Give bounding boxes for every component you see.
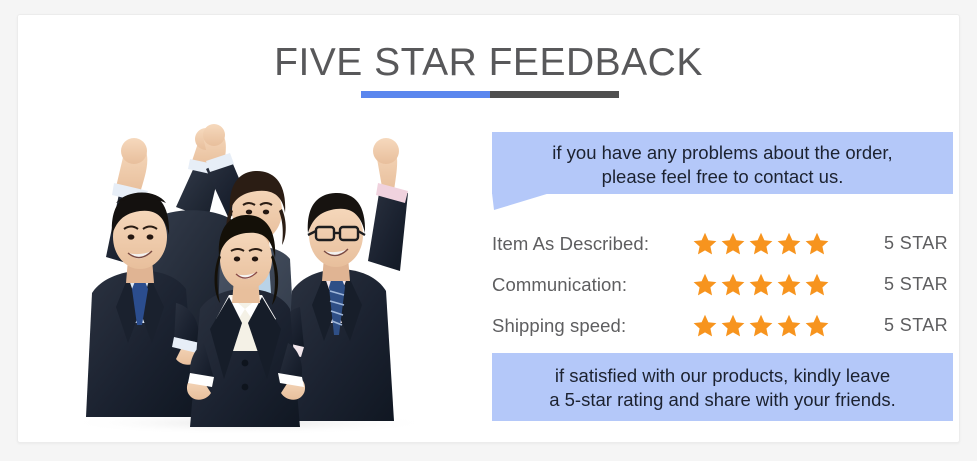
rating-value-communication: 5 STAR bbox=[852, 274, 948, 295]
rating-stars-item-as-described bbox=[692, 231, 852, 257]
speech-bubble-tail bbox=[492, 193, 564, 209]
ratings-list: Item As Described: 5 STAR Communication: bbox=[492, 223, 953, 346]
star-icon bbox=[748, 231, 774, 257]
banner-card: FIVE STAR FEEDBACK bbox=[17, 14, 960, 443]
rating-stars-shipping-speed bbox=[692, 313, 852, 339]
title-rule-blue-segment bbox=[361, 91, 490, 98]
contact-message-line-1: if you have any problems about the order… bbox=[502, 141, 943, 165]
rating-value-shipping-speed: 5 STAR bbox=[852, 315, 948, 336]
contact-message-line-2: please feel free to contact us. bbox=[502, 165, 943, 189]
star-icon bbox=[720, 313, 746, 339]
star-icon bbox=[776, 231, 802, 257]
rating-request-bubble: if satisfied with our products, kindly l… bbox=[492, 353, 953, 421]
rating-label-item-as-described: Item As Described: bbox=[492, 233, 692, 255]
rating-request-line-1: if satisfied with our products, kindly l… bbox=[502, 364, 943, 388]
star-icon bbox=[804, 231, 830, 257]
star-icon bbox=[776, 313, 802, 339]
star-icon bbox=[776, 272, 802, 298]
star-icon bbox=[748, 313, 774, 339]
star-icon bbox=[720, 272, 746, 298]
rating-stars-communication bbox=[692, 272, 852, 298]
star-icon bbox=[692, 272, 718, 298]
rating-row: Shipping speed: 5 STAR bbox=[492, 305, 953, 346]
rating-row: Communication: 5 STAR bbox=[492, 264, 953, 305]
star-icon bbox=[804, 272, 830, 298]
star-icon bbox=[692, 231, 718, 257]
rating-label-shipping-speed: Shipping speed: bbox=[492, 315, 692, 337]
rating-value-item-as-described: 5 STAR bbox=[852, 233, 948, 254]
rating-request-line-2: a 5-star rating and share with your frie… bbox=[502, 388, 943, 412]
feedback-banner: FIVE STAR FEEDBACK bbox=[0, 0, 977, 461]
feedback-content: if you have any problems about the order… bbox=[475, 15, 959, 442]
star-icon bbox=[804, 313, 830, 339]
star-icon bbox=[748, 272, 774, 298]
star-icon bbox=[692, 313, 718, 339]
contact-message-bubble: if you have any problems about the order… bbox=[492, 132, 953, 194]
team-photo bbox=[24, 111, 469, 433]
star-icon bbox=[720, 231, 746, 257]
rating-label-communication: Communication: bbox=[492, 274, 692, 296]
rating-row: Item As Described: 5 STAR bbox=[492, 223, 953, 264]
